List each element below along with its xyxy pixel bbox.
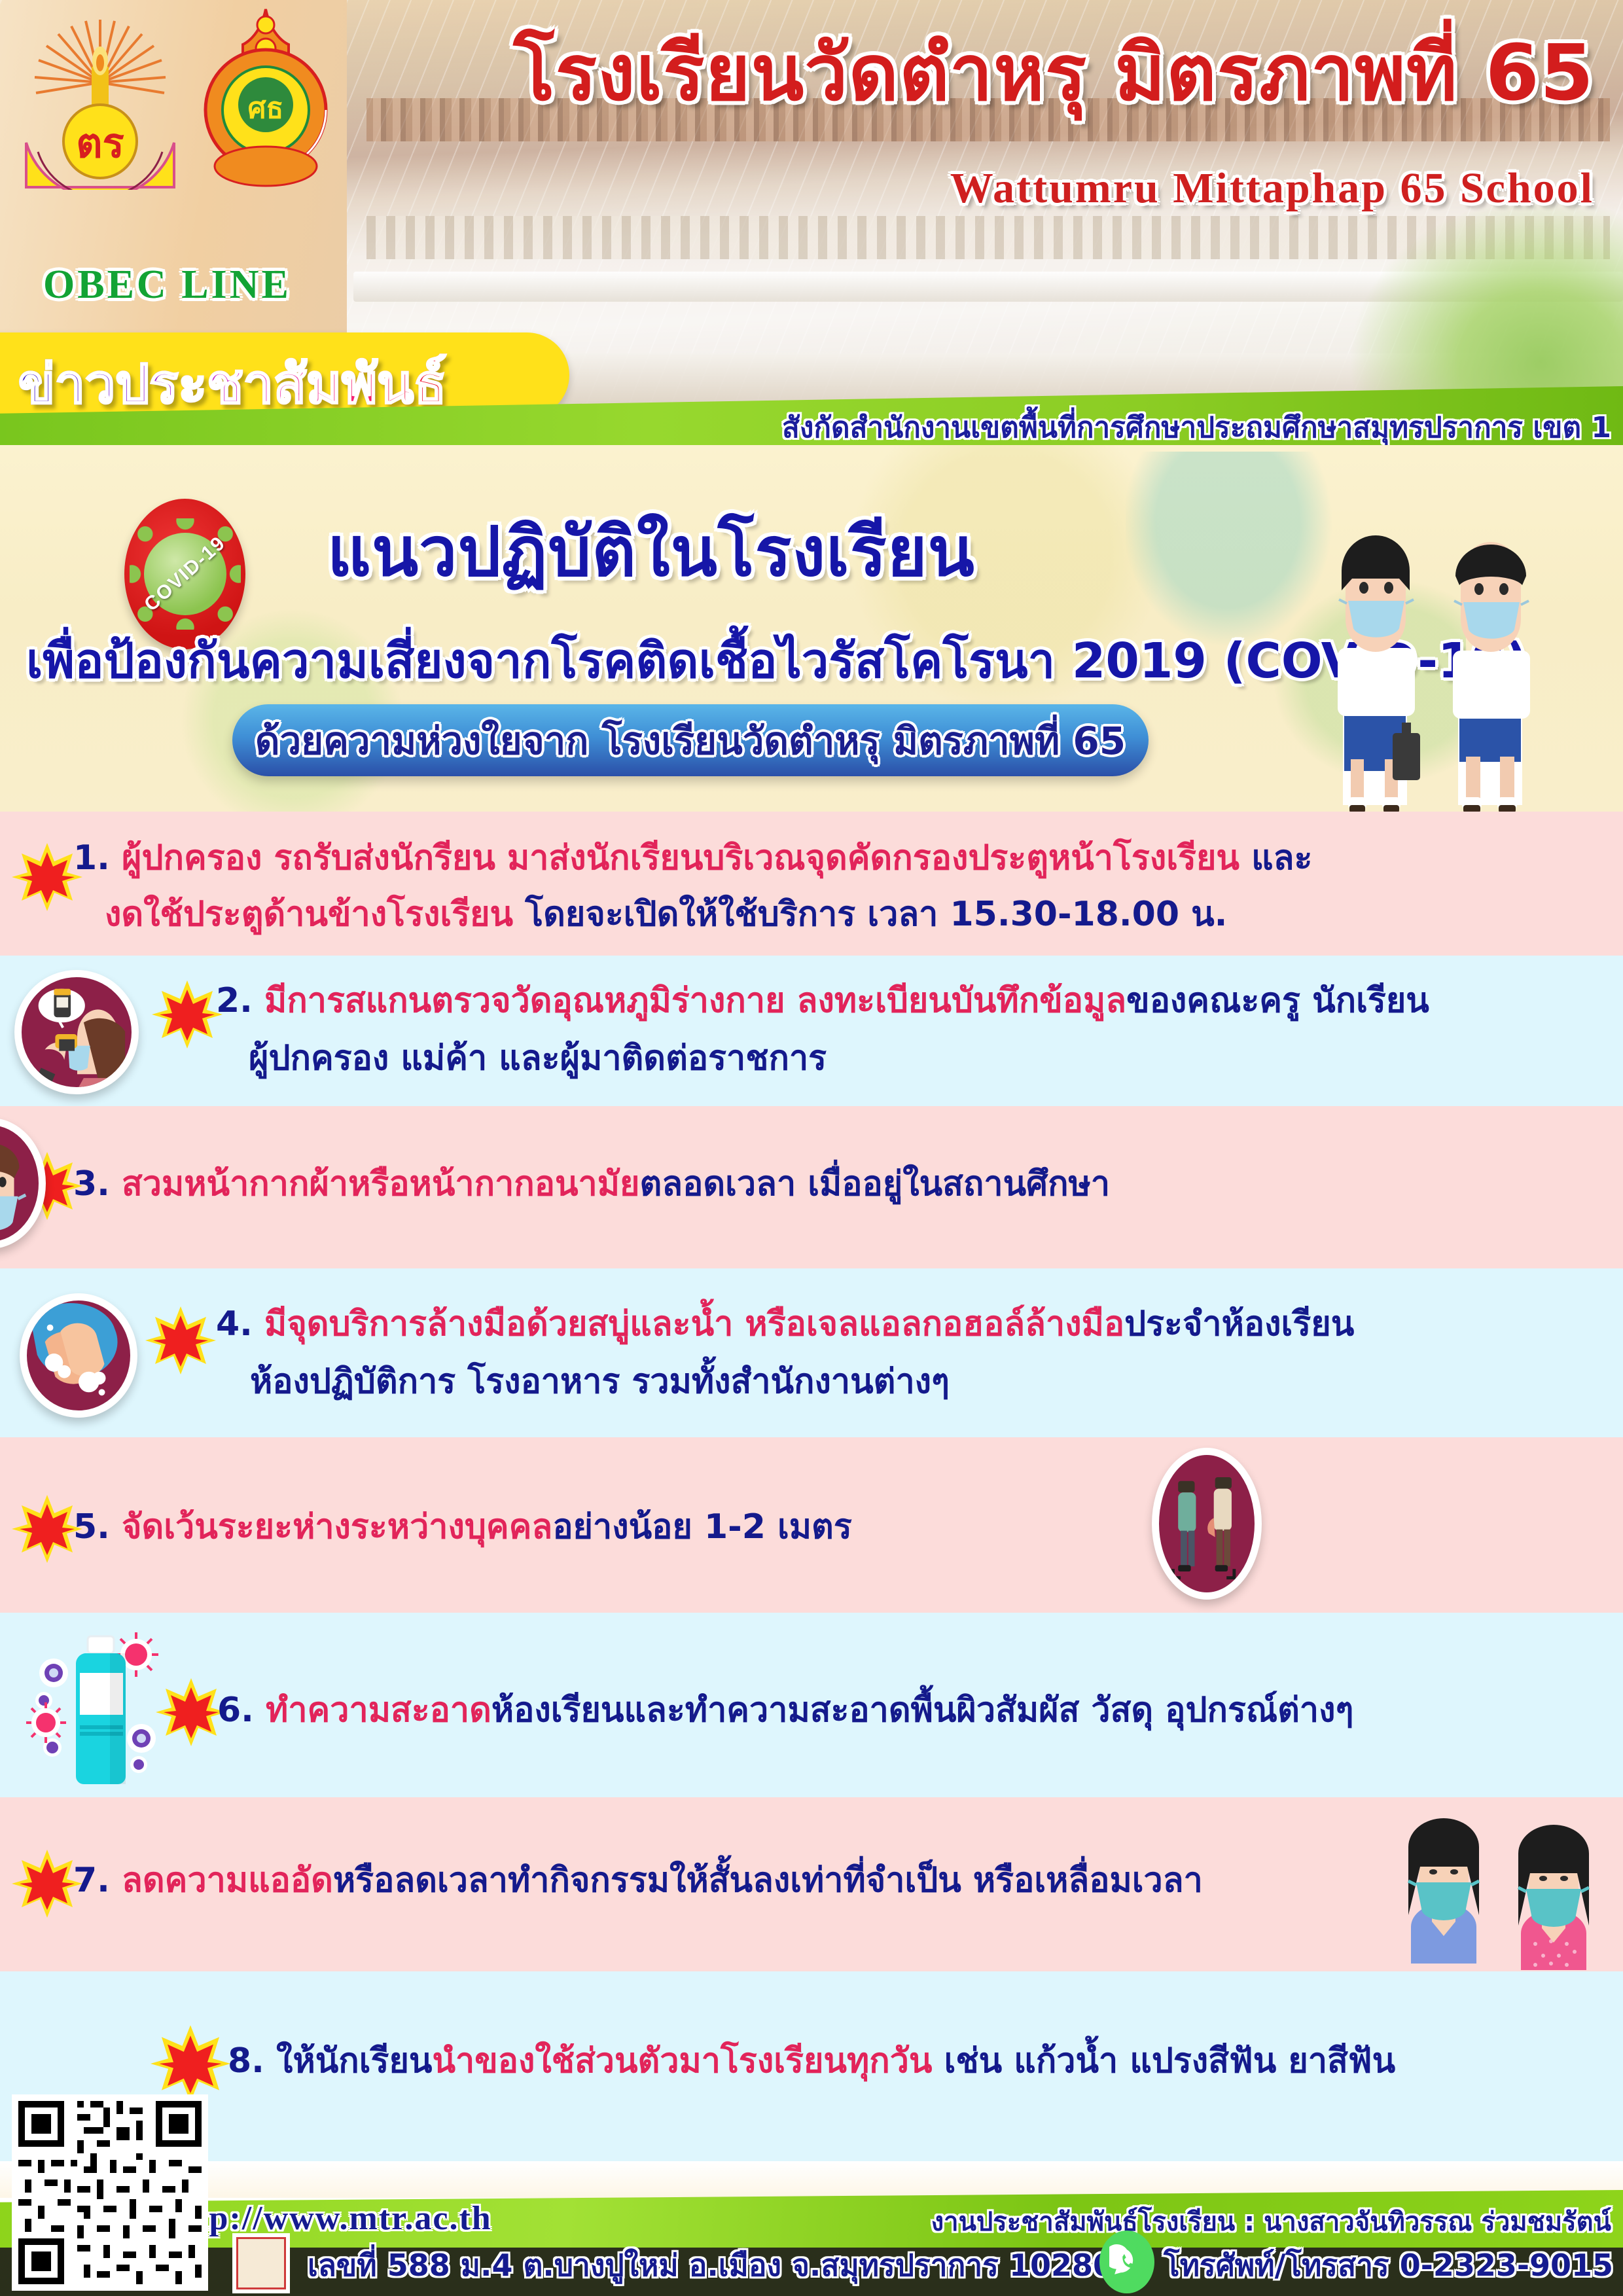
list-item-line: ผู้ปกครอง แม่ค้า และผู้มาติดต่อราชการ bbox=[249, 1031, 827, 1085]
line-seg: โดยจะเปิดให้ใช้บริการ เวลา 15.30-18.00 น… bbox=[525, 895, 1227, 934]
line-seg: 4. bbox=[216, 1304, 264, 1344]
line-seg: 8. bbox=[228, 2041, 276, 2081]
list-item: 6. ทำความสะอาดห้องเรียนและทำความสะอาดพื้… bbox=[0, 1613, 1623, 1797]
hero-pill-banner: ด้วยความห่วงใยจาก โรงเรียนวัดตำหรุ มิตรภ… bbox=[232, 704, 1149, 776]
list-item-line: งดใช้ประตูด้านข้างโรงเรียน โดยจะเปิดให้ใ… bbox=[105, 888, 1227, 941]
list-item: 7. ลดความแออัดหรือลดเวลาทำกิจกรรมให้สั้น… bbox=[0, 1797, 1623, 1971]
list-item-line: 1. ผู้ปกครอง รถรับส่งนักรียน มาส่งนักเรี… bbox=[73, 831, 1312, 885]
line-seg: สวมหน้ากากผ้าหรือหน้ากากอนามัย bbox=[122, 1164, 639, 1204]
line-seg: ให้นักเรียน bbox=[276, 2041, 432, 2081]
line-seg: หรือลดเวลาทำกิจกรรมให้สั้นลงเท่าที่จำเป็… bbox=[333, 1861, 1203, 1900]
line-seg: ผู้ปกครอง รถรับส่งนักรียน มาส่งนักเรียนบ… bbox=[122, 838, 1251, 878]
line-seg: 3. bbox=[73, 1164, 122, 1204]
line-seg: ตลอดเวลา เมื่ออยู่ในสถานศึกษา bbox=[639, 1164, 1110, 1204]
envelope-icon bbox=[232, 2233, 290, 2293]
line-seg: อย่างน้อย 1-2 เมตร bbox=[552, 1507, 851, 1547]
obec-ministry-seal-logo: ศธ bbox=[173, 7, 358, 196]
list-item: 5. จัดเว้นระยะห่างระหว่างบุคคลอย่างน้อย … bbox=[0, 1437, 1623, 1613]
line-seg: 7. bbox=[73, 1861, 122, 1900]
page-title-english: Wattumru Mittaphap 65 School bbox=[694, 164, 1610, 213]
starburst-icon bbox=[151, 2024, 230, 2104]
line-seg: ผู้ปกครอง แม่ค้า และผู้มาติดต่อราชการ bbox=[249, 1039, 827, 1078]
starburst-icon bbox=[156, 1677, 226, 1748]
school-address: เลขที่ 588 ม.4 ต.บางปูใหม่ อ.เมือง จ.สมุ… bbox=[308, 2242, 1114, 2289]
list-item-line: 5. จัดเว้นระยะห่างระหว่างบุคคลอย่างน้อย … bbox=[73, 1500, 852, 1554]
website-url[interactable]: http://www.mtr.ac.th bbox=[164, 2199, 492, 2238]
face-mask-icon bbox=[0, 1118, 46, 1249]
line-seg: 6. bbox=[217, 1691, 266, 1730]
line-seg: และ bbox=[1251, 838, 1312, 878]
line-seg: ทำความสะอาด bbox=[266, 1691, 491, 1730]
line-seg: 5. bbox=[73, 1507, 122, 1547]
poster-root: ตร ศธ โรงเรียนวัดตำหรุ มิตรภาพที่ 65 Wat… bbox=[0, 0, 1623, 2296]
affiliation-text: สังกัดสำนักงานเขตพื้นที่การศึกษาประถมศึก… bbox=[782, 404, 1611, 450]
list-item-line: 4. มีจุดบริการล้างมือด้วยสบู่และน้ำ หรือ… bbox=[216, 1297, 1354, 1351]
line-seg: จัดเว้นระยะห่างระหว่างบุคคล bbox=[122, 1507, 552, 1547]
school-seal-candle-logo: ตร bbox=[14, 12, 186, 190]
line-seg: ลดความแออัด bbox=[122, 1861, 333, 1900]
starburst-icon bbox=[145, 1305, 216, 1376]
line-seg: ห้องปฏิบัติการ โรงอาหาร รวมทั้งสำนักงานต… bbox=[250, 1362, 950, 1401]
list-item-line: 3. สวมหน้ากากผ้าหรือหน้ากากอนามัยตลอดเวล… bbox=[73, 1157, 1110, 1211]
line-seg: งดใช้ประตูด้านข้างโรงเรียน bbox=[105, 895, 525, 934]
phone-chat-icon bbox=[1099, 2231, 1154, 2293]
hero-pill-label: ด้วยความห่วงใยจาก โรงเรียนวัดตำหรุ มิตรภ… bbox=[255, 710, 1126, 771]
obec-line-label: OBEC LINE bbox=[43, 262, 291, 308]
line-seg: มีการสแกนตรวจวัดอุณหภูมิร่างกาย ลงทะเบีย… bbox=[264, 981, 1126, 1020]
line-seg: ห้องเรียนและทำความสะอาดพื้นผิวสัมผัส วัส… bbox=[491, 1691, 1354, 1730]
list-item-line: 7. ลดความแออัดหรือลดเวลาทำกิจกรรมให้สั้น… bbox=[73, 1854, 1203, 1907]
guidelines-list: 1. ผู้ปกครอง รถรับส่งนักรียน มาส่งนักเรี… bbox=[0, 812, 1623, 2161]
list-item: 8. ให้นักเรียนนำของใช้ส่วนตัวมาโรงเรียนท… bbox=[0, 1971, 1623, 2161]
list-item: 4. มีจุดบริการล้างมือด้วยสบู่และน้ำ หรือ… bbox=[0, 1268, 1623, 1437]
page-title-thai: โรงเรียนวัดตำหรุ มิตรภาพที่ 65 bbox=[432, 26, 1610, 120]
handwash-icon bbox=[20, 1293, 137, 1418]
svg-text:ศธ: ศธ bbox=[248, 92, 284, 125]
thermometer-scan-icon bbox=[14, 970, 139, 1094]
svg-text:ตร: ตร bbox=[76, 119, 124, 167]
news-badge: ข่าวประชาสัมพันธ์ bbox=[0, 332, 569, 418]
pr-credit: งานประชาสัมพันธ์โรงเรียน : นางสาวจันทิวร… bbox=[931, 2200, 1611, 2242]
starburst-icon bbox=[152, 979, 223, 1050]
line-seg: 2. bbox=[216, 981, 264, 1020]
line-seg: นำของใช้ส่วนตัวมาโรงเรียนทุกวัน bbox=[432, 2041, 932, 2081]
social-distancing-icon bbox=[1152, 1448, 1262, 1600]
line-seg: มีจุดบริการล้างมือด้วยสบู่และน้ำ หรือเจล… bbox=[264, 1304, 1124, 1344]
two-masked-students-illustration bbox=[1309, 452, 1597, 818]
list-item: 3. สวมหน้ากากผ้าหรือหน้ากากอนามัยตลอดเวล… bbox=[0, 1106, 1623, 1268]
starburst-icon bbox=[12, 842, 82, 912]
line-seg: 1. bbox=[73, 838, 122, 878]
starburst-icon bbox=[12, 1848, 82, 1919]
line-seg: เช่น แก้วน้ำ แปรงสีฟัน ยาสีฟัน bbox=[932, 2041, 1395, 2081]
list-item-line: 2. มีการสแกนตรวจวัดอุณหภูมิร่างกาย ลงทะเ… bbox=[216, 974, 1429, 1028]
list-item: 1. ผู้ปกครอง รถรับส่งนักรียน มาส่งนักเรี… bbox=[0, 812, 1623, 956]
telephone-number: โทรศัพท์/โทรสาร 0-2323-9015 bbox=[1164, 2242, 1613, 2289]
line-seg: ประจำห้องเรียน bbox=[1124, 1304, 1354, 1344]
list-item-line: ห้องปฏิบัติการ โรงอาหาร รวมทั้งสำนักงานต… bbox=[250, 1355, 950, 1408]
list-item-line: 6. ทำความสะอาดห้องเรียนและทำความสะอาดพื้… bbox=[217, 1683, 1353, 1737]
list-item: 2. มีการสแกนตรวจวัดอุณหภูมิร่างกาย ลงทะเ… bbox=[0, 956, 1623, 1106]
sanitizer-bottle-icon bbox=[26, 1632, 177, 1796]
starburst-icon bbox=[12, 1494, 82, 1564]
masked-people-icon bbox=[1361, 1817, 1623, 1971]
hero-subheading: เพื่อป้องกันความเสี่ยงจากโรคติดเชื้อไวรั… bbox=[26, 622, 1374, 699]
hero-heading: แนวปฏิบัติในโรงเรียน bbox=[327, 497, 1243, 605]
qr-code[interactable] bbox=[12, 2094, 208, 2291]
list-item-line: 8. ให้นักเรียนนำของใช้ส่วนตัวมาโรงเรียนท… bbox=[228, 2034, 1395, 2088]
line-seg: ของคณะครู นักเรียน bbox=[1126, 981, 1429, 1020]
